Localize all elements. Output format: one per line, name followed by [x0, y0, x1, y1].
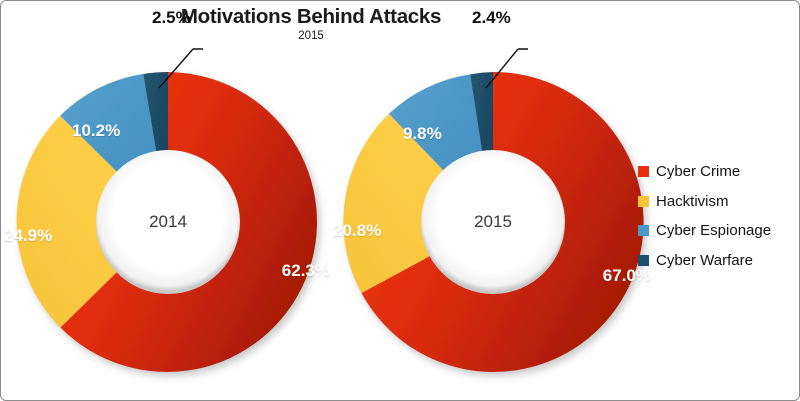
slice-label-cyber-crime-2014: 62.3% — [282, 261, 330, 281]
donut-center-label-2014: 2014 — [149, 212, 187, 232]
legend-item-hacktivism: Hacktivism — [638, 187, 771, 217]
square-swatch-icon — [638, 196, 649, 207]
legend-item-cyber-espionage: Cyber Espionage — [638, 216, 771, 246]
donut-chart-2015: 67.0% 20.8% 9.8% 2.4% 2015 — [337, 66, 649, 378]
chart-legend: Cyber Crime Hacktivism Cyber Espionage C… — [638, 157, 771, 275]
donut-chart-2014: 62.3% 24.9% 10.2% 2.5% 2014 — [12, 66, 324, 378]
square-swatch-icon — [638, 166, 649, 177]
chart-subtitle: 2015 — [1, 30, 621, 44]
square-swatch-icon — [638, 255, 649, 266]
chart-figure: Motivations Behind Attacks 2015 — [0, 0, 800, 401]
page-title: Motivations Behind Attacks — [1, 5, 621, 29]
slice-label-cyber-espionage-2014: 10.2% — [72, 121, 120, 141]
slice-label-hacktivism-2014: 24.9% — [4, 226, 52, 246]
slice-label-cyber-warfare-2014: 2.5% — [152, 8, 191, 28]
slice-label-cyber-warfare-2015: 2.4% — [472, 8, 511, 28]
donut-center-label-2015: 2015 — [474, 212, 512, 232]
slice-label-cyber-espionage-2015: 9.8% — [403, 124, 442, 144]
title-block: Motivations Behind Attacks 2015 — [1, 5, 621, 43]
slice-label-hacktivism-2015: 20.8% — [333, 221, 381, 241]
legend-item-cyber-crime: Cyber Crime — [638, 157, 771, 187]
legend-label-cyber-crime: Cyber Crime — [656, 163, 740, 180]
legend-label-cyber-espionage: Cyber Espionage — [656, 222, 771, 239]
square-swatch-icon — [638, 225, 649, 236]
legend-label-cyber-warfare: Cyber Warfare — [656, 252, 753, 269]
legend-item-cyber-warfare: Cyber Warfare — [638, 246, 771, 276]
legend-label-hacktivism: Hacktivism — [656, 193, 729, 210]
